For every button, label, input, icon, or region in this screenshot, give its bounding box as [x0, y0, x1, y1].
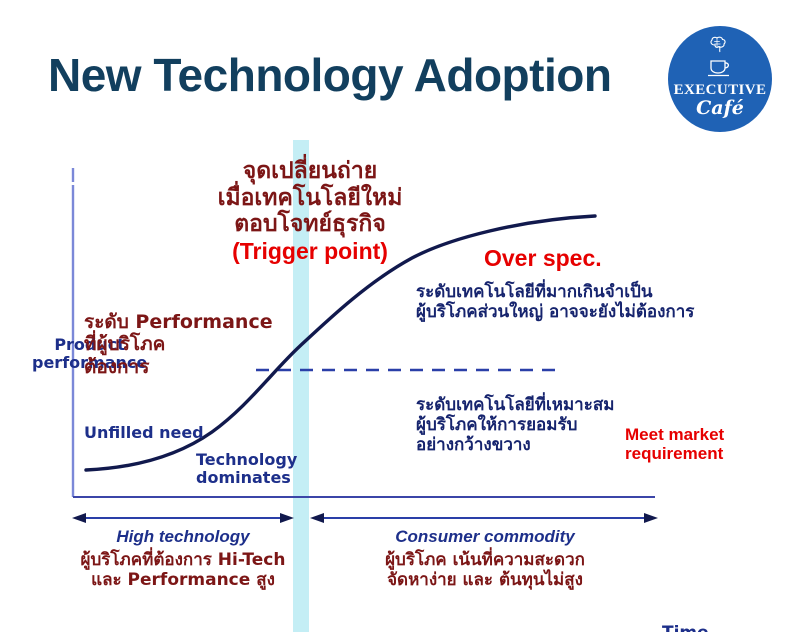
meet-market-note: ระดับเทคโนโลยีที่เหมาะสม ผู้บริโภคให้การ… [416, 395, 614, 455]
coffee-cup-icon [705, 56, 735, 82]
meet-market-note-line3: อย่างกว้างขวาง [416, 435, 614, 455]
phase-right-description: ผู้บริโภค เน้นที่ความสะดวก จัดหาง่าย และ… [310, 550, 660, 591]
technology-dominates-line2: dominates [196, 469, 297, 487]
trigger-point-note: จุดเปลี่ยนถ่าย เมื่อเทคโนโลยีใหม่ ตอบโจท… [186, 158, 434, 265]
meet-market-note-line2: ผู้บริโภคให้การยอมรับ [416, 415, 614, 435]
slide-root: New Technology Adoption EXECUTIVE Café [0, 0, 800, 632]
meet-market-label: Meet market requirement [625, 425, 724, 463]
over-spec-note: ระดับเทคโนโลยีที่มากเกินจำเป็น ผู้บริโภค… [416, 282, 694, 322]
meet-market-label-line1: Meet market [625, 425, 724, 444]
phase-arrow-high-technology [72, 513, 294, 523]
phase-right-desc-line2: จัดหาง่าย และ ต้นทุนไม่สูง [310, 570, 660, 590]
trigger-note-line2: เมื่อเทคโนโลยีใหม่ [186, 185, 434, 212]
executive-cafe-logo: EXECUTIVE Café [668, 26, 772, 132]
required-performance-note: ระดับ Performance ที่ผู้บริโภค ต้องการ [84, 311, 273, 378]
logo-brand-text: EXECUTIVE [668, 83, 772, 98]
phase-left-title: High technology [73, 527, 293, 547]
over-spec-label: Over spec. [484, 245, 602, 272]
over-spec-note-line2: ผู้บริโภคส่วนใหญ่ อาจจะยังไม่ต้องการ [416, 302, 694, 322]
phase-left-desc-line1: ผู้บริโภคที่ต้องการ Hi-Tech [58, 550, 308, 570]
over-spec-note-line1: ระดับเทคโนโลยีที่มากเกินจำเป็น [416, 282, 694, 302]
unfilled-need-label: Unfilled need [84, 424, 204, 443]
trigger-note-line3: ตอบโจทย์ธุรกิจ [186, 211, 434, 238]
technology-dominates-line1: Technology [196, 451, 297, 469]
page-title: New Technology Adoption [48, 48, 611, 102]
phase-left-desc-line2: และ Performance สูง [58, 570, 308, 590]
meet-market-note-line1: ระดับเทคโนโลยีที่เหมาะสม [416, 395, 614, 415]
trigger-note-line4: (Trigger point) [186, 238, 434, 265]
x-axis-label: Time [662, 623, 709, 632]
meet-market-label-line2: requirement [625, 444, 724, 463]
technology-dominates-label: Technology dominates [196, 451, 297, 487]
phase-left-description: ผู้บริโภคที่ต้องการ Hi-Tech และ Performa… [58, 550, 308, 591]
required-performance-line1: ระดับ Performance [84, 311, 273, 333]
required-performance-line3: ต้องการ [84, 356, 273, 378]
required-performance-line2: ที่ผู้บริโภค [84, 333, 273, 355]
phase-arrow-consumer-commodity [310, 513, 658, 523]
phase-right-title: Consumer commodity [310, 527, 660, 547]
phase-right-desc-line1: ผู้บริโภค เน้นที่ความสะดวก [310, 550, 660, 570]
trigger-note-line1: จุดเปลี่ยนถ่าย [186, 158, 434, 185]
logo-sub-text: Café [668, 99, 772, 118]
